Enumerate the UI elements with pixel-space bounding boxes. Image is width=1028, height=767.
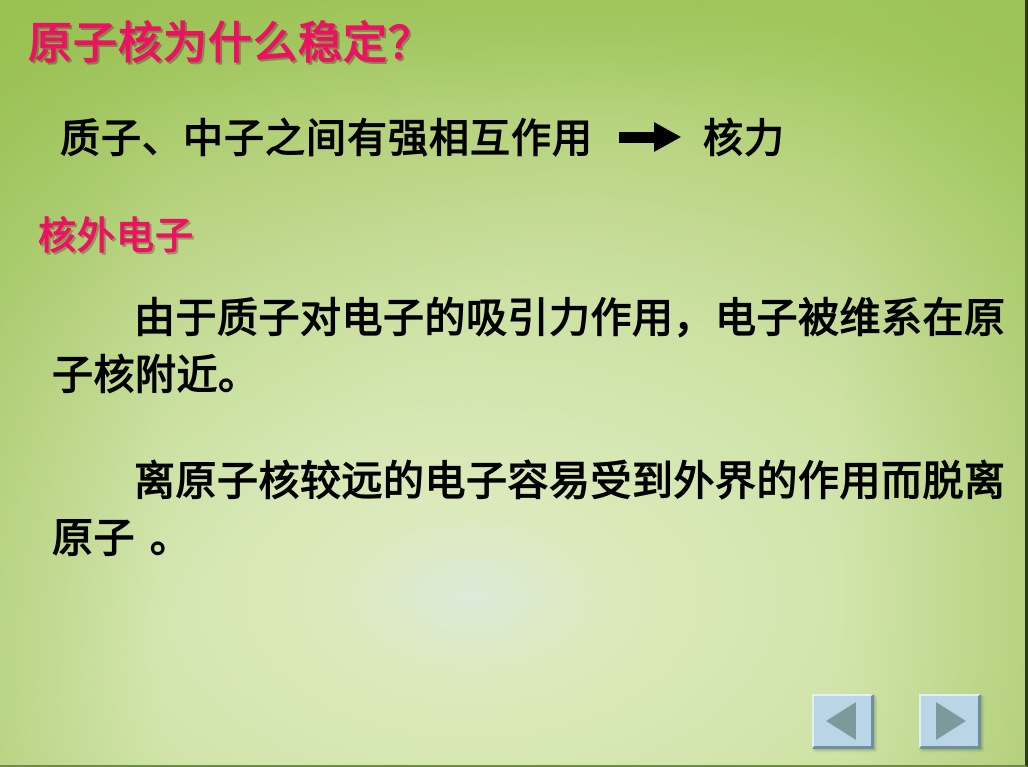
right-arrow-icon — [619, 122, 681, 152]
triangle-left-icon — [826, 702, 856, 740]
body-paragraph-2: 离原子核较远的电子容易受到外界的作用而脱离原子 。 — [52, 453, 1012, 568]
arrow-shaft — [619, 132, 655, 143]
subtitle-line: 质子、中子之间有强相互作用 核力 — [60, 106, 785, 164]
slide-title: 原子核为什么稳定？ — [28, 21, 433, 67]
previous-slide-button[interactable] — [812, 694, 874, 749]
next-slide-button[interactable] — [919, 694, 981, 749]
triangle-right-icon — [936, 702, 966, 740]
subtitle-right-text: 核力 — [703, 106, 785, 164]
body-paragraph-1: 由于质子对电子的吸引力作用，电子被维系在原子核附近。 — [52, 290, 1012, 405]
arrow-head — [654, 122, 681, 152]
presentation-slide: 原子核为什么稳定？ 质子、中子之间有强相互作用 核力 核外电子 由于质子对电子的… — [0, 0, 1028, 767]
subtitle-left-text: 质子、中子之间有强相互作用 — [60, 106, 593, 164]
section-heading: 核外电子 — [38, 205, 194, 260]
